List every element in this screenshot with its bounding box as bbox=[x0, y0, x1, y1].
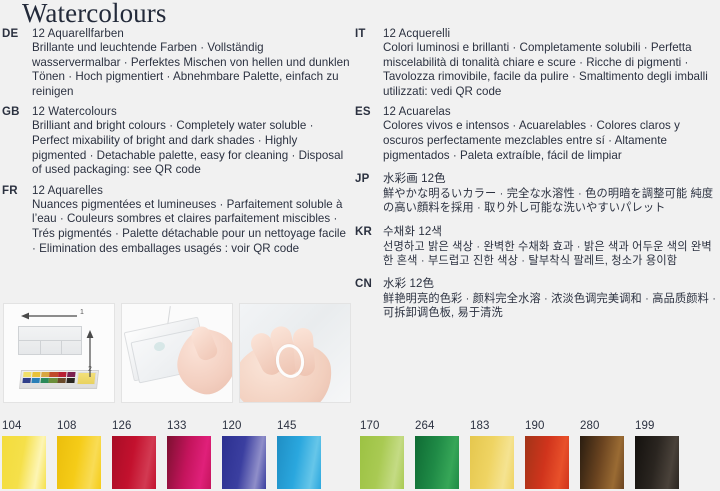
palette-pan bbox=[22, 378, 31, 383]
colour-swatch-code: 126 bbox=[112, 420, 156, 433]
colour-swatch-group-right: 170264183190280199 bbox=[360, 420, 679, 489]
palette-pan bbox=[31, 378, 40, 383]
colour-swatch: 264 bbox=[415, 420, 459, 489]
language-heading: 12 Acuarelas bbox=[383, 106, 451, 118]
language-header: CN 水彩 12色 bbox=[355, 275, 720, 291]
language-block-kr: KR 수채화 12색 선명하고 밝은 색상 · 완벽한 수채화 효과 · 밝은 … bbox=[355, 223, 720, 268]
language-heading: 12 Aquarelles bbox=[32, 185, 103, 197]
language-body: Colori luminosi e brillanti · Completame… bbox=[383, 41, 720, 99]
colour-swatch-code: 145 bbox=[277, 420, 321, 433]
language-code: IT bbox=[355, 28, 383, 40]
colour-swatch-code: 108 bbox=[57, 420, 101, 433]
palette-pan bbox=[67, 372, 76, 377]
language-heading: 수채화 12색 bbox=[383, 223, 442, 239]
palette-pan bbox=[40, 378, 49, 383]
colour-swatch-code: 280 bbox=[580, 420, 624, 433]
language-code: GB bbox=[2, 106, 32, 118]
language-header: IT 12 Acquerelli bbox=[355, 28, 720, 40]
photo-hand-washing-palette bbox=[239, 303, 351, 403]
language-heading: 水彩 12色 bbox=[383, 275, 434, 291]
palette-pan bbox=[49, 372, 58, 377]
language-heading: 12 Acquerelli bbox=[383, 28, 450, 40]
language-column-left: DE 12 Aquarellfarben Brillante und leuch… bbox=[2, 28, 350, 263]
colour-swatch-chip bbox=[277, 436, 321, 489]
language-block-jp: JP 水彩画 12色 鮮やかな明るいカラー · 完全な水溶性 · 色の明暗を調整… bbox=[355, 170, 720, 215]
colour-swatch: 183 bbox=[470, 420, 514, 489]
colour-swatch: 170 bbox=[360, 420, 404, 489]
colour-swatch: 133 bbox=[167, 420, 211, 489]
language-header: FR 12 Aquarelles bbox=[2, 185, 350, 197]
product-photo-strip: 1 2 bbox=[3, 303, 351, 403]
language-heading: 12 Aquarellfarben bbox=[32, 28, 124, 40]
colour-swatch: 104 bbox=[2, 420, 46, 489]
language-body: Brilliant and bright colours · Completel… bbox=[32, 119, 350, 177]
language-body: 鲜艳明亮的色彩 · 颜料完全水溶 · 浓淡色调完美调和 · 高品质颜料 · 可拆… bbox=[383, 292, 720, 320]
palette-pan bbox=[58, 372, 67, 377]
language-block-cn: CN 水彩 12色 鲜艳明亮的色彩 · 颜料完全水溶 · 浓淡色调完美调和 · … bbox=[355, 275, 720, 320]
language-code: DE bbox=[2, 28, 32, 40]
colour-swatch-code: 183 bbox=[470, 420, 514, 433]
page-title: Watercolours bbox=[22, 0, 166, 28]
palette-pan bbox=[23, 372, 32, 377]
language-header: DE 12 Aquarellfarben bbox=[2, 28, 350, 40]
language-header: GB 12 Watercolours bbox=[2, 106, 350, 118]
colour-swatch: 280 bbox=[580, 420, 624, 489]
colour-swatch: 126 bbox=[112, 420, 156, 489]
language-heading: 12 Watercolours bbox=[32, 106, 117, 118]
colour-swatch-chip bbox=[470, 436, 514, 489]
colour-swatch-chip bbox=[580, 436, 624, 489]
language-code: JP bbox=[355, 173, 383, 185]
language-block-it: IT 12 Acquerelli Colori luminosi e brill… bbox=[355, 28, 720, 99]
palette-pan bbox=[49, 378, 58, 383]
language-code: KR bbox=[355, 226, 383, 238]
colour-swatch-code: 104 bbox=[2, 420, 46, 433]
language-column-right: IT 12 Acquerelli Colori luminosi e brill… bbox=[355, 28, 720, 327]
colour-swatch-code: 120 bbox=[222, 420, 266, 433]
photo-palette-exploded-diagram: 1 2 bbox=[3, 303, 115, 403]
language-block-gb: GB 12 Watercolours Brilliant and bright … bbox=[2, 106, 350, 177]
language-code: CN bbox=[355, 278, 383, 290]
language-block-de: DE 12 Aquarellfarben Brillante und leuch… bbox=[2, 28, 350, 99]
language-code: ES bbox=[355, 106, 383, 118]
photo-hand-detaching-palette bbox=[121, 303, 233, 403]
colour-swatch-chip bbox=[57, 436, 101, 489]
colour-swatch-chip bbox=[2, 436, 46, 489]
language-header: KR 수채화 12색 bbox=[355, 223, 720, 239]
colour-swatch-code: 133 bbox=[167, 420, 211, 433]
language-body: 선명하고 밝은 색상 · 완벽한 수채화 효과 · 밝은 색과 어두운 색의 완… bbox=[383, 240, 720, 268]
palette-pan bbox=[57, 378, 66, 383]
language-body: 鮮やかな明るいカラー · 完全な水溶性 · 色の明暗を調整可能 純度の高い顔料を… bbox=[383, 187, 720, 215]
language-code: FR bbox=[2, 185, 32, 197]
colour-swatch: 145 bbox=[277, 420, 321, 489]
colour-swatch-chip bbox=[360, 436, 404, 489]
colour-swatch: 190 bbox=[525, 420, 569, 489]
colour-swatch: 120 bbox=[222, 420, 266, 489]
palette-pan bbox=[66, 378, 75, 383]
colour-swatch-chip bbox=[167, 436, 211, 489]
colour-swatch-chip bbox=[222, 436, 266, 489]
colour-swatch-chip bbox=[112, 436, 156, 489]
colour-swatch-code: 170 bbox=[360, 420, 404, 433]
palette-pan bbox=[32, 372, 41, 377]
colour-swatch-code: 190 bbox=[525, 420, 569, 433]
language-block-es: ES 12 Acuarelas Colores vivos e intensos… bbox=[355, 106, 720, 163]
language-body: Colores vivos e intensos · Acuarelables … bbox=[383, 119, 720, 163]
language-block-fr: FR 12 Aquarelles Nuances pigmentées et l… bbox=[2, 185, 350, 256]
colour-swatch-chip bbox=[635, 436, 679, 489]
colour-swatch-code: 199 bbox=[635, 420, 679, 433]
palette-pan bbox=[41, 372, 50, 377]
colour-swatch-chip bbox=[525, 436, 569, 489]
language-body: Brillante und leuchtende Farben · Vollst… bbox=[32, 41, 350, 99]
colour-swatch-group-left: 104108126133120145 bbox=[2, 420, 321, 489]
colour-swatch: 199 bbox=[635, 420, 679, 489]
language-body: Nuances pigmentées et lumineuses · Parfa… bbox=[32, 198, 350, 256]
language-header: JP 水彩画 12色 bbox=[355, 170, 720, 186]
arrow-left-icon bbox=[21, 312, 78, 320]
arrow-label-2: 2 bbox=[88, 366, 92, 373]
product-info-page: Watercolours DE 12 Aquarellfarben Brilla… bbox=[0, 0, 720, 491]
colour-swatch-chip bbox=[415, 436, 459, 489]
colour-swatch-code: 264 bbox=[415, 420, 459, 433]
arrow-label-1: 1 bbox=[80, 309, 84, 316]
language-heading: 水彩画 12色 bbox=[383, 170, 446, 186]
palette-lid-illustration bbox=[18, 326, 82, 355]
language-header: ES 12 Acuarelas bbox=[355, 106, 720, 118]
colour-swatch: 108 bbox=[57, 420, 101, 489]
palette-pans-illustration bbox=[22, 372, 75, 383]
